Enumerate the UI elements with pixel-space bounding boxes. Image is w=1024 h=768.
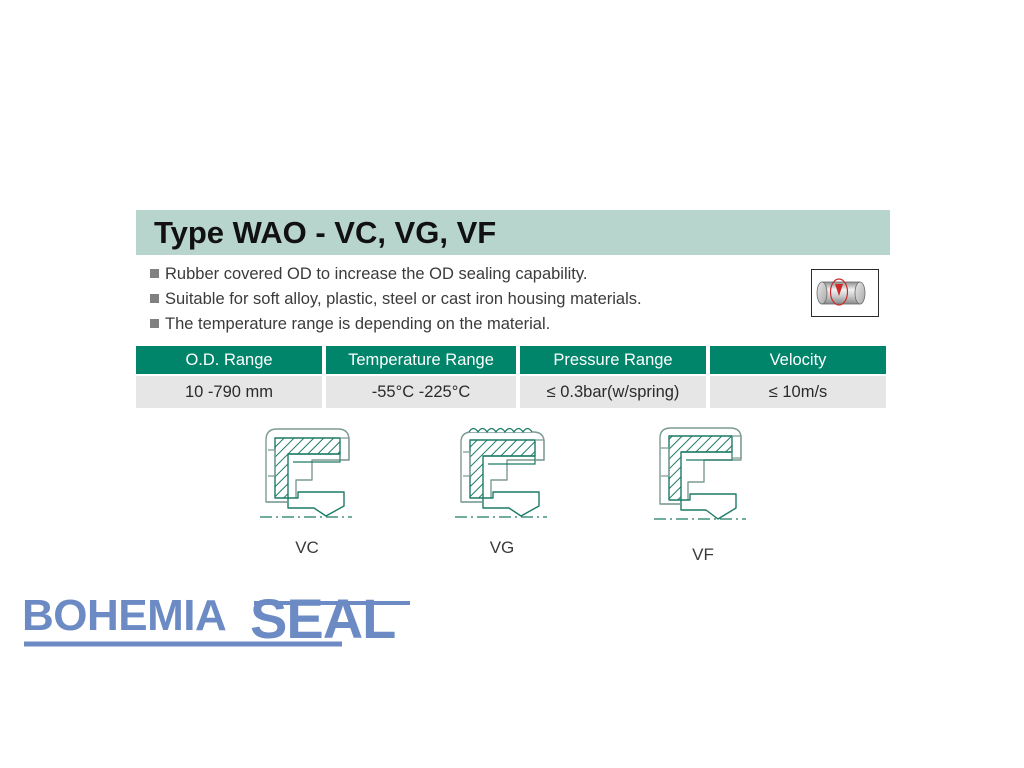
bullet-square-icon — [150, 319, 159, 328]
seal-label: VC — [252, 538, 362, 558]
seal-diagram-vc: VC — [252, 420, 362, 532]
company-logo: BOHEMIA SEAL — [22, 588, 422, 650]
table-row: 10 -790 mm -55°C -225°C ≤ 0.3bar(w/sprin… — [136, 376, 890, 408]
list-item-label: Rubber covered OD to increase the OD sea… — [165, 264, 588, 284]
rotating-shaft-graphic — [812, 270, 877, 315]
list-item-label: Suitable for soft alloy, plastic, steel … — [165, 289, 642, 309]
table-cell: ≤ 0.3bar(w/spring) — [520, 376, 706, 408]
seal-vf-graphic — [648, 420, 758, 538]
table-header-row: O.D. Range Temperature Range Pressure Ra… — [136, 346, 890, 374]
slide-page: Type WAO - VC, VG, VF Rubber covered OD … — [0, 0, 1024, 768]
seal-label: VG — [447, 538, 557, 558]
title-banner: Type WAO - VC, VG, VF — [136, 210, 890, 255]
table-cell: -55°C -225°C — [326, 376, 516, 408]
list-item: Rubber covered OD to increase the OD sea… — [150, 264, 770, 285]
spec-table: O.D. Range Temperature Range Pressure Ra… — [136, 346, 890, 408]
list-item-label: The temperature range is depending on th… — [165, 314, 550, 334]
list-item: Suitable for soft alloy, plastic, steel … — [150, 289, 770, 310]
list-item: The temperature range is depending on th… — [150, 314, 770, 335]
bohemia-seal-logo-graphic: BOHEMIA SEAL — [22, 588, 422, 650]
seal-diagram-vg: VG — [447, 420, 557, 532]
logo-text-primary: BOHEMIA — [22, 591, 226, 640]
table-cell: ≤ 10m/s — [710, 376, 886, 408]
seal-vc-graphic — [252, 420, 362, 532]
table-header-cell: Pressure Range — [520, 346, 706, 374]
seal-vg-graphic — [447, 420, 557, 532]
seal-label: VF — [648, 545, 758, 565]
table-header-cell: Temperature Range — [326, 346, 516, 374]
table-cell: 10 -790 mm — [136, 376, 322, 408]
rotating-shaft-icon — [811, 269, 879, 317]
feature-list: Rubber covered OD to increase the OD sea… — [150, 264, 770, 339]
table-header-cell: O.D. Range — [136, 346, 322, 374]
bullet-square-icon — [150, 269, 159, 278]
seal-diagram-vf: VF — [648, 420, 758, 538]
logo-text-secondary: SEAL — [250, 588, 395, 650]
seal-diagram-group: VC — [0, 420, 1024, 560]
table-header-cell: Velocity — [710, 346, 886, 374]
bullet-square-icon — [150, 294, 159, 303]
page-title: Type WAO - VC, VG, VF — [154, 215, 496, 251]
